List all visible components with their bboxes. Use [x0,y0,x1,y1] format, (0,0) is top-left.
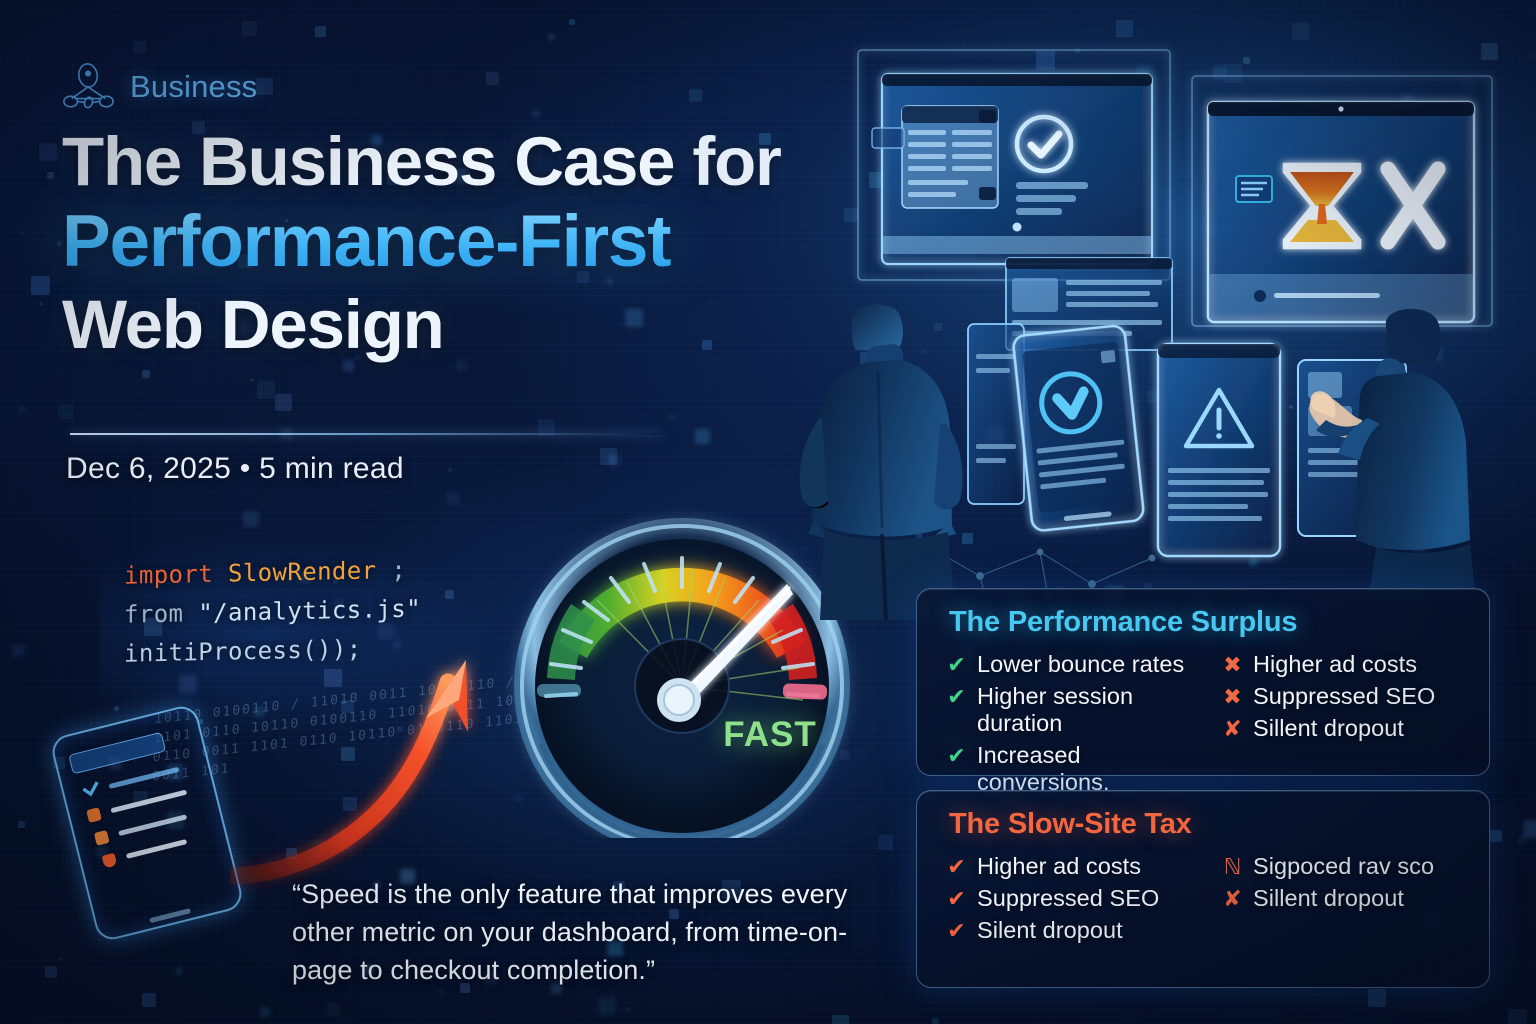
mobile-device-mockup [49,703,245,943]
pixel-square [548,34,554,40]
phone-row-chip [94,830,110,846]
check-circle-icon [1039,371,1103,435]
title-divider [70,433,662,435]
pixel-square [921,350,925,354]
pixel-square [1292,23,1309,40]
hourglass-icon [1284,164,1360,248]
glyph-icon: ℕ [1223,856,1242,878]
check-icon: ✔ [947,745,966,767]
page-title: The Business Case for Performance-First … [62,128,862,359]
pixel-square [1523,820,1536,838]
gauge-label: FAST [723,715,816,754]
pixel-square [910,514,927,531]
card-title: The Slow-Site Tax [949,808,1192,841]
pixel-square [1243,57,1250,64]
list-item: ✔Lower bounce rates [947,651,1209,678]
pixel-square [256,78,273,95]
list-item: ✔Higher session duration [947,683,1209,737]
info-card-slow-site-tax: The Slow-Site Tax ✔Higher ad costs ✔Supp… [916,790,1490,988]
pixel-square [1529,53,1536,61]
category-eyebrow[interactable]: Business [62,60,257,114]
list-item: ✔Silent dropout [947,917,1209,944]
pixel-square [327,1003,340,1016]
pixel-square [1075,48,1080,53]
pixel-square [860,352,875,367]
pixel-square [1338,161,1350,173]
warning-triangle-icon [1186,390,1252,446]
pixel-square [978,218,981,221]
code-keyword-from: from [124,599,183,628]
pixel-square [1223,64,1242,83]
slow-site-monitor [1208,102,1474,322]
pixel-square [1412,524,1418,530]
pixel-square [962,533,973,544]
desktop-monitor [872,74,1152,264]
pixel-square [1517,836,1527,846]
pixel-square [1368,989,1386,1007]
pixel-square [1367,520,1373,526]
list-item: ✔Increased conversions. [947,742,1209,796]
pixel-square [609,455,616,462]
pixel-square [257,381,275,399]
pixel-square [456,360,467,371]
pixel-square [133,41,146,54]
pixel-square [905,605,914,614]
pixel-square [1169,414,1177,422]
list-item: ✖Higher ad costs [1223,651,1473,678]
pixel-square [932,1018,939,1024]
info-card-performance-surplus: The Performance Surplus ✔Lower bounce ra… [916,588,1490,776]
pull-quote: “Speed is the only feature that improves… [292,876,892,989]
article-meta: Dec 6, 2025 • 5 min read [66,452,404,486]
list-item-label: Silent dropout [977,917,1123,944]
pixel-square [1461,489,1472,500]
pixel-square [1412,536,1427,551]
pixel-square [19,407,25,413]
pixel-square [608,454,620,466]
pixel-square [533,111,539,117]
list-item-label: Suppressed SEO [977,885,1159,912]
speed-gauge: FAST [487,508,877,838]
pixel-square [1508,1009,1527,1024]
pixel-square [397,726,403,732]
title-line-2: Performance-First [62,206,862,278]
pixel-square [1481,43,1498,60]
list-item-label: Sillent dropout [1253,885,1404,912]
code-call-expression: initiProcess()); [124,635,362,668]
card-columns: ✔Lower bounce rates ✔Higher session dura… [947,651,1473,796]
pixel-square [446,492,459,505]
pixel-square [695,429,710,444]
devices-illustration [840,24,1536,624]
pixel-square [869,172,885,188]
phone-row-chip [86,807,102,823]
pixel-square [1249,557,1258,566]
pixel-square [275,394,292,411]
card-columns: ✔Higher ad costs ✔Suppressed SEO ✔Silent… [947,853,1473,944]
pixel-square [1401,95,1414,108]
list-item: ✘Sillent dropout [1223,715,1473,742]
phone-row-chip [102,853,118,869]
pixel-square [39,302,43,306]
code-line-3: initiProcess()); [124,627,480,673]
list-item: ✖Suppressed SEO [1223,683,1473,710]
pixel-square [176,968,182,974]
phone-device-warning [1158,344,1280,556]
pixel-square [1147,390,1160,403]
list-item-label: Higher ad costs [1253,651,1417,678]
pixel-square [1116,20,1133,37]
pixel-square [1358,479,1364,485]
pixel-square [1408,215,1421,228]
list-item-label: Suppressed SEO [1253,683,1435,710]
pixel-square [1137,66,1153,82]
pixel-square [832,1015,849,1024]
check-icon: ✔ [947,920,966,942]
pixel-square [260,1007,270,1017]
check-icon: ✔ [947,654,966,676]
pixel-square [598,997,616,1015]
list-item-label: Sigpoced rav sco [1253,853,1434,880]
check-icon: ✔ [947,856,966,878]
card-right-column: ℕSigpoced rav sco ✘Sillent dropout [1223,853,1473,944]
pixel-square [1098,434,1105,441]
pixel-square [343,797,357,811]
pixel-square [513,117,517,121]
pixel-square [250,379,253,382]
pixel-square [1289,405,1293,409]
list-item-label: Sillent dropout [1253,715,1404,742]
pixel-square [58,404,73,419]
eyebrow-label: Business [130,69,257,105]
cross-icon: ✖ [1223,654,1242,676]
pixel-square [486,72,499,85]
card-left-column: ✔Lower bounce rates ✔Higher session dura… [947,651,1209,796]
card-right-column: ✖Higher ad costs ✖Suppressed SEO ✘Sillen… [1223,651,1473,796]
poster-canvas: Business The Business Case for Performan… [0,0,1536,1024]
pixel-square [19,230,24,235]
card-title: The Performance Surplus [949,606,1297,639]
code-class-name: SlowRender [228,556,377,587]
pixel-square [1236,472,1253,489]
pixel-square [1036,51,1055,70]
pixel-square [1427,346,1442,361]
pixel-square [315,26,326,37]
pixel-square [1461,78,1474,91]
check-icon: ✔ [947,686,966,708]
pixel-square [916,533,922,539]
list-item: ✔Suppressed SEO [947,885,1209,912]
code-semicolon: ; [391,556,406,584]
pixel-square [669,415,674,420]
code-string-path: "/analytics.js" [198,594,421,627]
pixel-square [311,90,314,93]
code-snippet: import SlowRender ; from "/analytics.js"… [124,549,480,720]
pixel-square [934,323,942,331]
list-item-label: Higher session duration [977,683,1209,737]
pixel-square [31,276,50,295]
pixel-square [45,966,57,978]
pixel-square [1262,534,1268,540]
pixel-square [243,511,259,527]
pixel-square [59,957,62,960]
code-keyword-import: import [124,560,213,590]
phone-check-icon [77,778,105,803]
pixel-square [242,21,257,36]
list-item-label: Increased conversions. [977,742,1209,796]
pixel-square [1038,366,1048,376]
list-item: ✔Higher ad costs [947,853,1209,880]
pixel-square [1209,224,1219,234]
pixel-square [142,993,156,1007]
cross-icon: ✖ [1223,686,1242,708]
title-line-1-strong: The Business Case [62,123,674,200]
list-item: ℕSigpoced rav sco [1223,853,1473,880]
pixel-square [833,396,850,413]
pixel-square [625,1007,631,1013]
pixel-square [18,821,25,828]
pixel-square [689,89,702,102]
pixel-square [1410,165,1418,173]
tablet-device [968,324,1024,504]
pixel-square [448,468,452,472]
pixel-square [341,747,355,761]
pixel-square [1238,128,1249,139]
pixel-square [1028,78,1036,86]
check-circle-icon [1017,117,1071,171]
pixel-square [114,706,119,711]
phone-device-check [1012,325,1144,532]
title-line-3: Web Design [62,291,862,359]
pixel-square [1286,144,1294,152]
pixel-square [1367,274,1372,279]
pixel-square [47,172,54,179]
pixel-square [39,143,57,161]
pixel-square [1251,237,1267,253]
browser-window-small [1006,258,1172,350]
pixel-square [600,448,617,465]
pixel-square [1244,315,1252,323]
title-line-1-suffix: for [674,123,780,200]
check-icon: ✔ [947,888,966,910]
pixel-square [1095,526,1099,530]
cross-icon: ✘ [1223,718,1242,740]
pixel-square [1490,830,1502,842]
pixel-square [878,835,893,850]
tablet-device-right [1298,360,1406,536]
pixel-square [312,840,327,855]
list-item-label: Higher ad costs [977,853,1141,880]
card-left-column: ✔Higher ad costs ✔Suppressed SEO ✔Silent… [947,853,1209,944]
pixel-square [569,19,575,25]
pixel-square [286,848,297,859]
cross-icon: ✘ [1223,888,1242,910]
list-item-label: Lower bounce rates [977,651,1184,678]
list-item: ✘Sillent dropout [1223,885,1473,912]
pixel-square [333,831,352,850]
network-nodes-icon [62,60,116,114]
pixel-square [142,370,150,378]
title-line-1: The Business Case for [62,128,862,196]
pixel-square [1424,540,1433,549]
businessman-frustrated [1290,300,1480,600]
pixel-square [12,644,25,657]
x-cross-icon [1388,169,1438,242]
pixel-square [987,426,1004,443]
pixel-square [1213,66,1225,78]
